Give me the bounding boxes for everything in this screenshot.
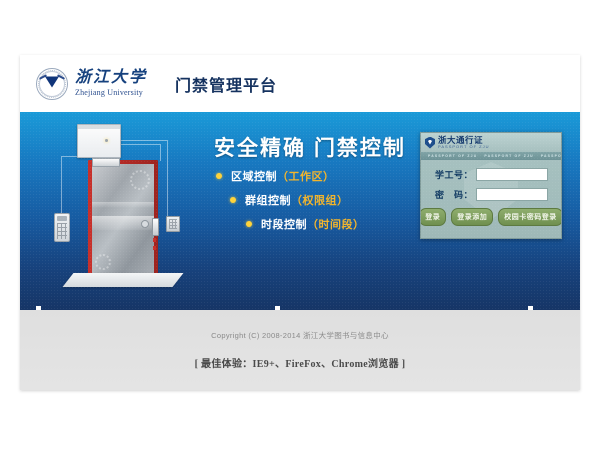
university-name-cn: 浙江大学: [75, 70, 147, 86]
login-add-button[interactable]: 登录添加: [451, 208, 493, 226]
banner-headline: 安全精确 门禁控制: [214, 132, 406, 162]
site-footer: Copyright (C) 2008-2014 浙江大学图书与信息中心 [ 最佳…: [20, 310, 580, 390]
feature-label: 群组控制: [245, 192, 291, 208]
strip-text: PASSPORT OF ZJU: [534, 154, 561, 158]
controller-box-icon: [77, 124, 121, 158]
passport-watermark-strip: PASSPORT OF ZJU PASSPORT OF ZJU PASSPORT…: [421, 152, 561, 160]
login-form: 学工号： 密 码： 登录 登录添加 校园卡密码登录: [421, 160, 561, 238]
username-field-row: 学工号：: [421, 168, 561, 181]
feature-detail: （时间段）: [307, 216, 365, 232]
feature-detail: （工作区）: [277, 168, 335, 184]
strip-text: PASSPORT OF ZJU: [421, 154, 477, 158]
dot-icon: [230, 197, 236, 203]
university-logo[interactable]: 浙江大学 Zhejiang University: [36, 68, 147, 100]
campus-card-login-button[interactable]: 校园卡密码登录: [498, 208, 562, 226]
university-name-en: Zhejiang University: [75, 89, 147, 97]
login-button[interactable]: 登录: [420, 208, 446, 226]
feature-label: 时段控制: [261, 216, 307, 232]
list-item: 群组控制 （权限组）: [230, 192, 436, 208]
floor-plate: [63, 273, 184, 287]
feature-list: 区域控制 （工作区） 群组控制 （权限组） 时段控制 （时间段）: [216, 168, 436, 240]
dot-icon: [246, 221, 252, 227]
login-panel: 浙大通行证 PASSPORT OF ZJU PASSPORT OF ZJU PA…: [420, 132, 562, 239]
page-card: 浙江大学 Zhejiang University 门禁管理平台: [20, 55, 580, 390]
page-title: 门禁管理平台: [175, 72, 277, 96]
zju-emblem-icon: [36, 68, 68, 100]
site-header: 浙江大学 Zhejiang University 门禁管理平台: [20, 55, 580, 112]
password-label: 密 码：: [421, 188, 476, 201]
password-field-row: 密 码：: [421, 188, 561, 201]
login-brand-en: PASSPORT OF ZJU: [438, 145, 489, 149]
card-reader-icon: [166, 216, 180, 232]
dot-icon: [216, 173, 222, 179]
security-door-illustration: [42, 118, 192, 298]
keypad-reader-icon: [54, 213, 70, 242]
door-closer-icon: [92, 158, 120, 167]
username-input[interactable]: [476, 168, 548, 181]
security-door-icon: [88, 160, 158, 278]
copyright-text: Copyright (C) 2008-2014 浙江大学图书与信息中心: [211, 330, 389, 341]
list-item: 时段控制 （时间段）: [246, 216, 436, 232]
login-brand-cn: 浙大通行证: [438, 136, 489, 145]
login-panel-header: 浙大通行证 PASSPORT OF ZJU: [421, 133, 561, 152]
list-item: 区域控制 （工作区）: [216, 168, 436, 184]
strip-text: PASSPORT OF ZJU: [477, 154, 533, 158]
username-label: 学工号：: [421, 168, 476, 181]
login-button-group: 登录 登录添加 校园卡密码登录: [421, 208, 561, 226]
feature-label: 区域控制: [231, 168, 277, 184]
browser-support-note: [ 最佳体验：IE9+、FireFox、Chrome浏览器 ]: [195, 355, 406, 370]
hero-banner: 安全精确 门禁控制 区域控制 （工作区） 群组控制 （权限组） 时段控制 （时间…: [20, 112, 580, 310]
feature-detail: （权限组）: [291, 192, 349, 208]
shield-icon: [425, 137, 435, 149]
wire-line: [119, 144, 161, 161]
password-input[interactable]: [476, 188, 548, 201]
